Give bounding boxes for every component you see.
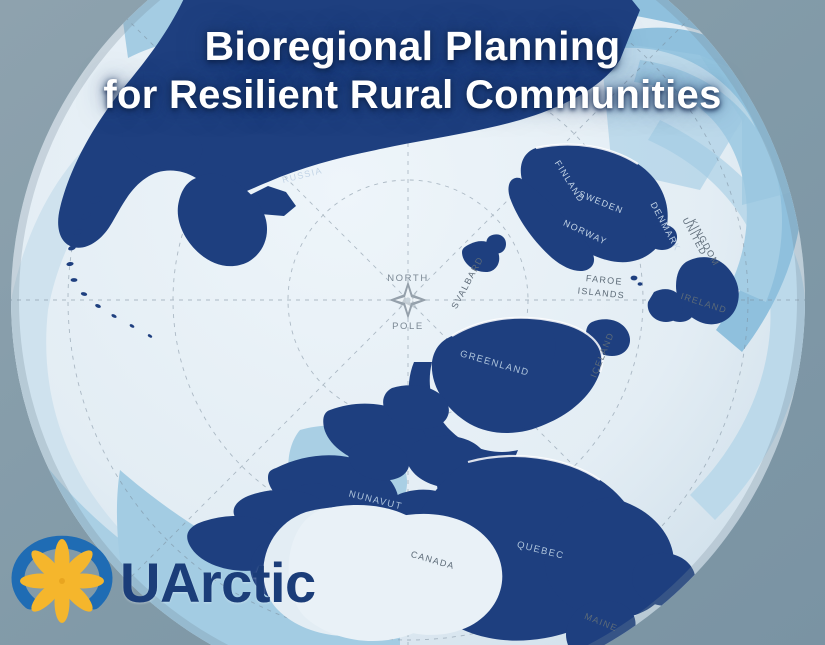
logo-petal-center (59, 578, 65, 584)
uarctic-logo: UArctic (8, 530, 328, 635)
slide-canvas: NORTH POLE RUSSIAFINLANDSWEDENNORWAYDENM… (0, 0, 825, 645)
north-pole-label-top: NORTH (387, 273, 429, 284)
uarctic-flower-mark (8, 533, 116, 633)
uarctic-wordmark: UArctic (120, 555, 316, 611)
north-pole-label-bottom: POLE (392, 321, 424, 332)
